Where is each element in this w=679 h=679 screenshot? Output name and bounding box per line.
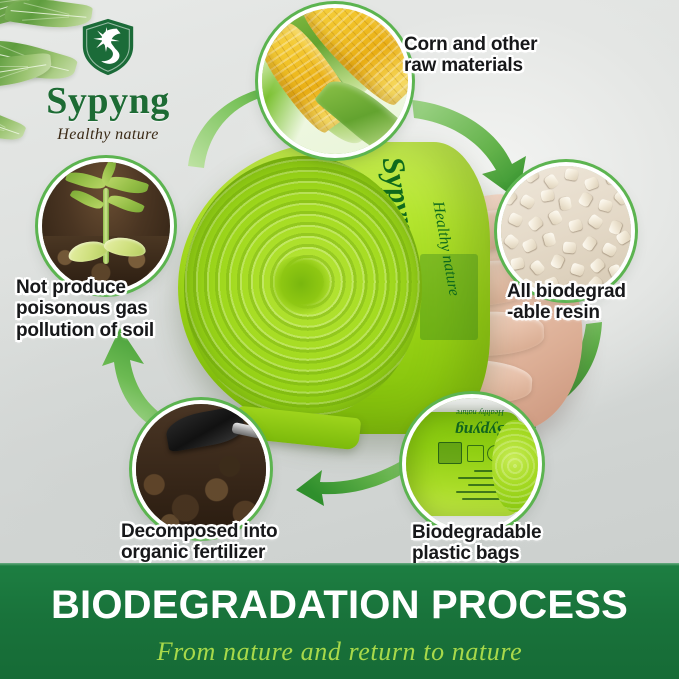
resin-pellets-photo xyxy=(501,166,631,296)
medallion-bags: Sypyng Healthy nature xyxy=(406,398,538,530)
corn-cobs-photo xyxy=(262,8,408,154)
callout-bags-line2: plastic bags xyxy=(412,543,541,564)
callout-soil-line2: poisonous gas xyxy=(16,298,154,319)
brand-name: Sypyng xyxy=(18,82,198,120)
callout-fertilizer-line2: organic fertilizer xyxy=(121,542,277,563)
compost-soil-trowel-photo xyxy=(136,404,266,534)
seedling-soil-photo xyxy=(42,162,170,290)
brand-tagline: Healthy nature xyxy=(18,127,198,143)
banner-title: BIODEGRADATION PROCESS xyxy=(0,563,679,625)
medallion-soil xyxy=(42,162,170,290)
callout-soil-line3: pollution of soil xyxy=(16,320,154,341)
bag-roll-end xyxy=(492,420,538,512)
roll-spiral-core xyxy=(268,256,334,314)
callout-bags: Biodegradable plastic bags xyxy=(412,522,541,565)
callout-corn: Corn and other raw materials xyxy=(404,34,537,77)
callout-resin-line1: All biodegrad xyxy=(507,281,626,302)
callout-corn-line2: raw materials xyxy=(404,55,537,76)
callout-fertilizer: Decomposed into organic fertilizer xyxy=(121,521,277,564)
medallion-resin xyxy=(501,166,631,296)
callout-soil: Not produce poisonous gas pollution of s… xyxy=(16,277,154,341)
callout-resin-line2: -able resin xyxy=(507,302,626,323)
medallion-fertilizer xyxy=(136,404,266,534)
shield-starburst-s-logo-icon xyxy=(77,16,139,78)
callout-soil-line1: Not produce xyxy=(16,277,154,298)
callout-resin: All biodegrad -able resin xyxy=(507,281,626,324)
brand-logo: Sypyng Healthy nature xyxy=(18,16,198,143)
bottom-banner: BIODEGRADATION PROCESS From nature and r… xyxy=(0,563,679,679)
green-bag-roll-photo: Sypyng Healthy nature xyxy=(406,398,538,530)
callout-bags-line1: Biodegradable xyxy=(412,522,541,543)
seedling-leaf xyxy=(70,186,105,213)
seedling-leaf xyxy=(65,168,107,193)
banner-subtitle: From nature and return to nature xyxy=(0,625,679,665)
seedling-leaf xyxy=(107,191,145,217)
medallion-corn xyxy=(262,8,408,154)
pellet-cluster xyxy=(501,166,631,296)
callout-fertilizer-line1: Decomposed into xyxy=(121,521,277,542)
infographic-canvas: Sypyng Healthy nature xyxy=(0,0,679,679)
callout-corn-line1: Corn and other xyxy=(404,34,537,55)
